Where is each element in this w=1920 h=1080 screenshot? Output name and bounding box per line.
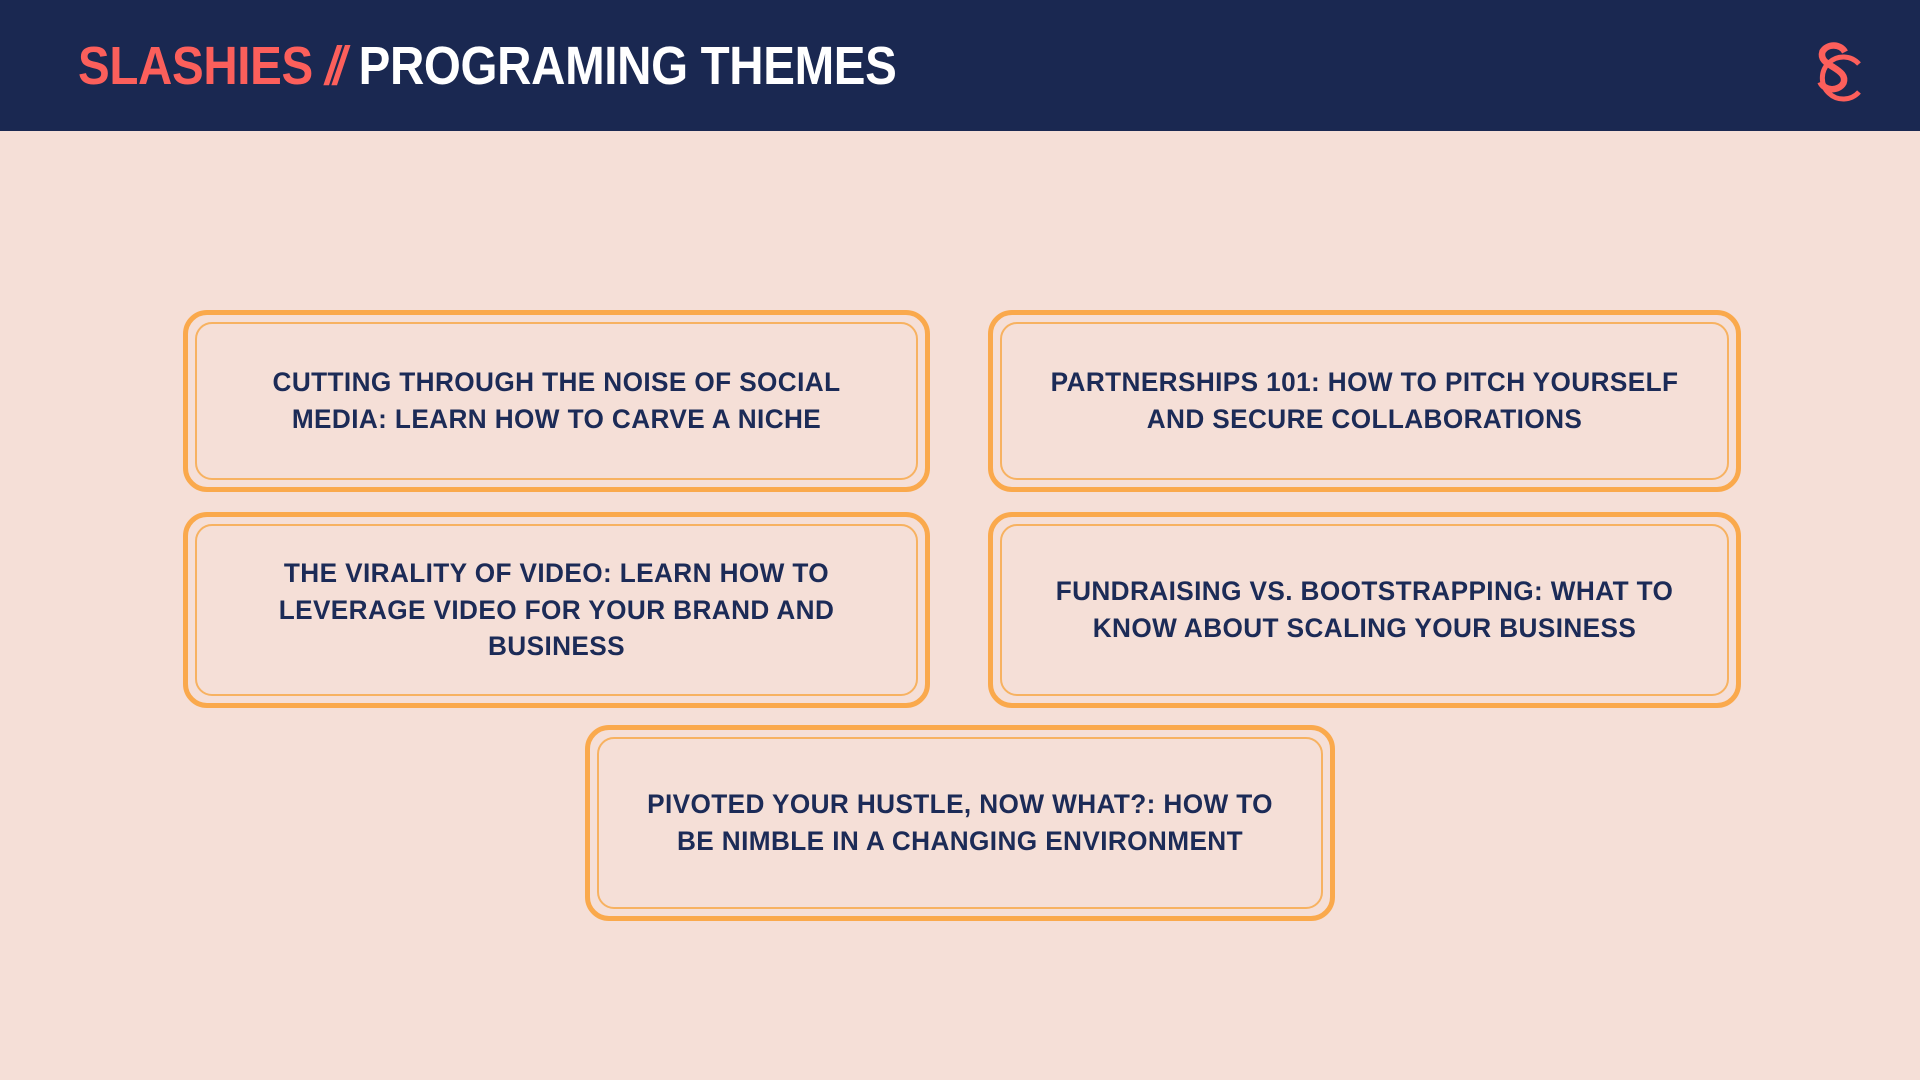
theme-card-grid: CUTTING THROUGH THE NOISE OF SOCIAL MEDI… bbox=[0, 131, 1920, 1080]
theme-card-label: CUTTING THROUGH THE NOISE OF SOCIAL MEDI… bbox=[237, 364, 876, 438]
theme-card[interactable]: CUTTING THROUGH THE NOISE OF SOCIAL MEDI… bbox=[183, 310, 930, 492]
sc-monogram-logo bbox=[1786, 18, 1882, 114]
theme-card-inner-frame: PIVOTED YOUR HUSTLE, NOW WHAT?: HOW TO B… bbox=[597, 737, 1323, 909]
theme-card-inner-frame: THE VIRALITY OF VIDEO: LEARN HOW TO LEVE… bbox=[195, 524, 918, 696]
theme-card-label: PIVOTED YOUR HUSTLE, NOW WHAT?: HOW TO B… bbox=[639, 786, 1281, 860]
page-title: SLASHIES // PROGRAMING THEMES bbox=[78, 0, 896, 131]
theme-card-inner-frame: CUTTING THROUGH THE NOISE OF SOCIAL MEDI… bbox=[195, 322, 918, 480]
theme-card[interactable]: PARTNERSHIPS 101: HOW TO PITCH YOURSELF … bbox=[988, 310, 1741, 492]
theme-card-label: FUNDRAISING VS. BOOTSTRAPPING: WHAT TO K… bbox=[1042, 573, 1687, 647]
slash-separator-icon: // bbox=[313, 39, 346, 93]
brand-name: SLASHIES bbox=[78, 39, 313, 93]
theme-card-inner-frame: FUNDRAISING VS. BOOTSTRAPPING: WHAT TO K… bbox=[1000, 524, 1729, 696]
theme-card[interactable]: PIVOTED YOUR HUSTLE, NOW WHAT?: HOW TO B… bbox=[585, 725, 1335, 921]
header-bar: SLASHIES // PROGRAMING THEMES bbox=[0, 0, 1920, 131]
page-title-text: PROGRAMING THEMES bbox=[346, 39, 896, 93]
theme-card-label: PARTNERSHIPS 101: HOW TO PITCH YOURSELF … bbox=[1042, 364, 1687, 438]
theme-card-inner-frame: PARTNERSHIPS 101: HOW TO PITCH YOURSELF … bbox=[1000, 322, 1729, 480]
slide-root: SLASHIES // PROGRAMING THEMES CUTTING TH… bbox=[0, 0, 1920, 1080]
theme-card[interactable]: THE VIRALITY OF VIDEO: LEARN HOW TO LEVE… bbox=[183, 512, 930, 708]
theme-card-label: THE VIRALITY OF VIDEO: LEARN HOW TO LEVE… bbox=[237, 555, 876, 666]
theme-card[interactable]: FUNDRAISING VS. BOOTSTRAPPING: WHAT TO K… bbox=[988, 512, 1741, 708]
